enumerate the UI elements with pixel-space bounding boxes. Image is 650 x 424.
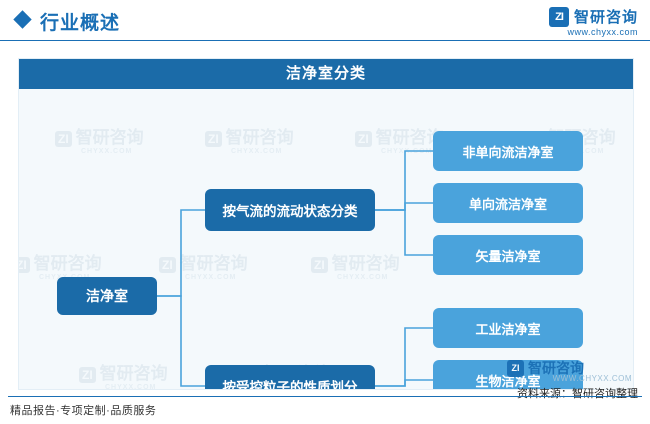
diagram-node-leaf-2[interactable]: 矢量洁净室 bbox=[433, 235, 583, 275]
page-subtitle: Chain bbox=[148, 13, 187, 29]
brand-name: 智研咨询 bbox=[574, 6, 638, 27]
diagram-node-leaf-0[interactable]: 非单向流洁净室 bbox=[433, 131, 583, 171]
page-title: 行业概述 bbox=[40, 8, 120, 35]
brand-logo: ZI 智研咨询 bbox=[549, 6, 638, 27]
diagram-node-branch-0[interactable]: 按气流的流动状态分类 bbox=[205, 189, 375, 231]
diagram-card: ZI智研咨询 CHYXX.COM ZI智研咨询 CHYXX.COM ZI智研咨询… bbox=[18, 58, 634, 390]
brand-mark-icon: ZI bbox=[549, 7, 569, 27]
footer-slogan: 精品报告·专项定制·品质服务 bbox=[10, 402, 156, 418]
footer-brand-url: WWW.CHYXX.COM bbox=[553, 374, 632, 383]
header-divider bbox=[0, 40, 650, 41]
card-title: 洁净室分类 bbox=[19, 59, 633, 89]
diagram-node-leaf-3[interactable]: 工业洁净室 bbox=[433, 308, 583, 348]
diagram-body: 洁净室 按气流的流动状态分类 按受控粒子的性质划分 非单向流洁净室 单向流洁净室… bbox=[19, 89, 633, 389]
diagram-node-branch-1[interactable]: 按受控粒子的性质划分 bbox=[205, 365, 375, 390]
page-root: 行业概述 Chain ZI 智研咨询 www.chyxx.com ZI智研咨询 … bbox=[0, 0, 650, 424]
diagram-node-leaf-1[interactable]: 单向流洁净室 bbox=[433, 183, 583, 223]
brand-url: www.chyxx.com bbox=[567, 27, 638, 37]
source-note: 资料来源：智研咨询整理 bbox=[517, 385, 638, 401]
diamond-icon bbox=[13, 10, 31, 28]
page-header: 行业概述 Chain ZI 智研咨询 www.chyxx.com bbox=[0, 0, 650, 40]
footer-brand-mark-icon: ZI bbox=[507, 360, 524, 377]
footer-divider bbox=[8, 396, 642, 397]
diagram-node-root[interactable]: 洁净室 bbox=[57, 277, 157, 315]
